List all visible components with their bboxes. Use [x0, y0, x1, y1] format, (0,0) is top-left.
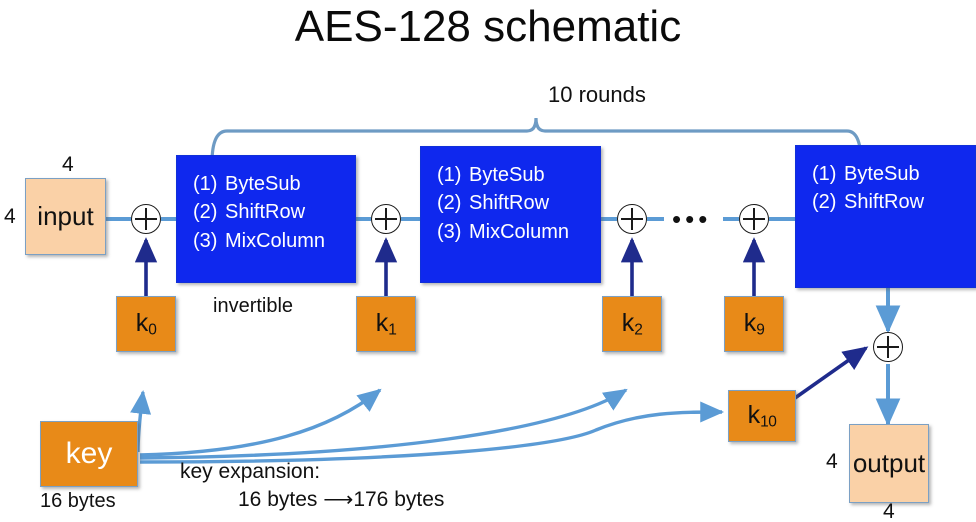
round-2-op-1-name: ByteSub: [469, 164, 545, 186]
round-2-op-2: (2)ShiftRow: [437, 189, 600, 217]
round-2-op-1-number: (1): [437, 161, 469, 189]
master-key-label: key: [66, 437, 113, 471]
round-1-op-1: (1)ByteSub: [193, 170, 355, 198]
round-1-op-2-name: ShiftRow: [225, 201, 305, 223]
output-width-label-left: 4: [826, 450, 838, 474]
round-10-op-1: (1)ByteSub: [812, 160, 975, 188]
xor-gate-0: [131, 204, 161, 234]
rounds-ellipsis: •••: [672, 206, 711, 232]
round-1-op-2: (2)ShiftRow: [193, 198, 355, 226]
round-key-box-k2: k2: [602, 296, 662, 352]
output-width-label-bottom: 4: [883, 500, 895, 522]
master-key-box: key: [40, 421, 138, 487]
key-expansion-text: key expansion: 16 bytes ⟶176 bytes: [180, 458, 444, 515]
round-1-op-2-number: (2): [193, 198, 225, 226]
round-1-op-3: (3)MixColumn: [193, 227, 355, 255]
round-box-10: (1)ByteSub (2)ShiftRow: [795, 145, 976, 288]
round-2-op-3-name: MixColumn: [469, 221, 569, 243]
page-title: AES-128 schematic: [0, 2, 976, 52]
aes-schematic-diagram: AES-128 schematic 10 rounds input 4 4 (1…: [0, 0, 976, 522]
round-1-caption: invertible: [213, 295, 293, 318]
xor-gate-final: [873, 332, 903, 362]
master-key-size-caption: 16 bytes: [40, 490, 116, 513]
input-width-label-left: 4: [4, 205, 16, 229]
round-2-op-1: (1)ByteSub: [437, 161, 600, 189]
round-box-2: (1)ByteSub (2)ShiftRow (3)MixColumn: [420, 146, 601, 283]
round-key-box-k10: k10: [728, 390, 796, 442]
round-box-1: (1)ByteSub (2)ShiftRow (3)MixColumn: [176, 155, 356, 283]
round-10-op-2-name: ShiftRow: [844, 191, 924, 213]
xor-gate-9: [739, 204, 769, 234]
round-key-label-k0: k0: [136, 309, 157, 339]
round-2-op-3-number: (3): [437, 218, 469, 246]
round-key-label-k10: k10: [748, 401, 777, 431]
round-key-box-k1: k1: [356, 296, 416, 352]
output-box: output: [849, 424, 929, 503]
round-key-label-k1: k1: [376, 309, 397, 339]
round-10-op-1-number: (1): [812, 160, 844, 188]
round-10-op-2-number: (2): [812, 188, 844, 216]
round-key-label-k9: k9: [744, 309, 765, 339]
input-width-label-top: 4: [62, 153, 74, 177]
round-2-op-3: (3)MixColumn: [437, 218, 600, 246]
round-1-op-1-number: (1): [193, 170, 225, 198]
xor-gate-1: [371, 204, 401, 234]
key-expansion-detail: 16 bytes ⟶176 bytes: [180, 486, 444, 514]
input-box: input: [25, 178, 106, 255]
key-expansion-arrows: [138, 390, 722, 462]
round-1-op-3-number: (3): [193, 227, 225, 255]
round-key-box-k9: k9: [724, 296, 784, 352]
round-10-op-1-name: ByteSub: [844, 163, 920, 185]
round-key-box-k0: k0: [116, 296, 176, 352]
round-1-op-1-name: ByteSub: [225, 173, 301, 195]
rounds-bracket-label: 10 rounds: [548, 82, 646, 108]
output-label: output: [853, 448, 925, 479]
round-key-label-k2: k2: [622, 309, 643, 339]
round-2-op-2-number: (2): [437, 189, 469, 217]
round-1-op-3-name: MixColumn: [225, 230, 325, 252]
xor-gate-2: [617, 204, 647, 234]
key-expansion-heading: key expansion:: [180, 460, 320, 483]
round-10-op-2: (2)ShiftRow: [812, 188, 975, 216]
round-2-op-2-name: ShiftRow: [469, 192, 549, 214]
input-label: input: [37, 201, 93, 232]
